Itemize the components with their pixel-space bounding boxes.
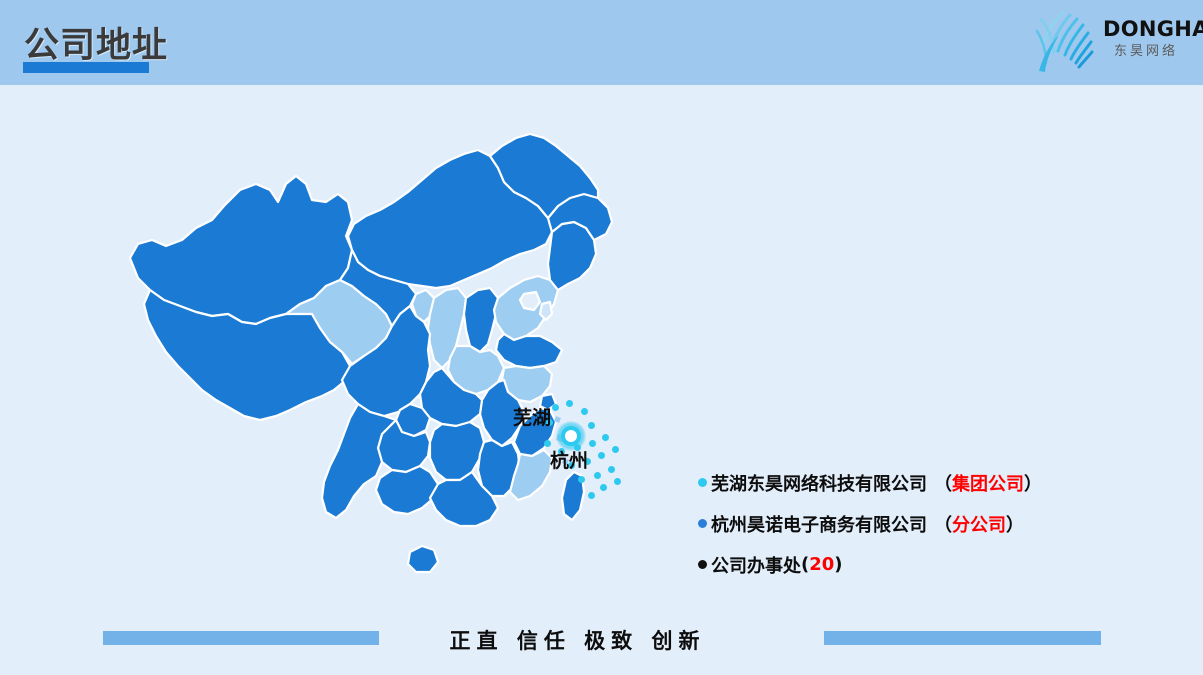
office-dot [594, 472, 601, 479]
province-tianjin [540, 302, 552, 320]
legend-bullet-icon [698, 560, 707, 569]
logo-name: DONGHAO [1103, 19, 1189, 40]
city-label-wuhu: 芜湖 [513, 403, 551, 430]
page-header: 公司地址 DONGHAO 东昊网络 [0, 0, 1203, 85]
marker-core-wuhu [565, 430, 577, 442]
office-dot [608, 466, 615, 473]
china-map-svg [100, 128, 680, 613]
legend-tag-suffix: ） [1006, 515, 1024, 536]
office-dot [589, 440, 596, 447]
legend-tag-text: 集团公司 [952, 474, 1024, 495]
province-shanxi [464, 288, 498, 352]
legend-tag-prefix: ( [801, 554, 809, 575]
office-dot [598, 452, 605, 459]
title-underline-accent [23, 62, 149, 73]
legend-tag-prefix: （ [934, 515, 952, 536]
office-dot [600, 484, 607, 491]
office-dot [588, 492, 595, 499]
province-hunan [430, 422, 484, 480]
legend-item-tag: （集团公司） [934, 470, 1042, 496]
legend-item-label: 公司办事处 [711, 552, 801, 578]
legend-tag-suffix: ) [834, 554, 842, 575]
legend-tag-suffix: ） [1024, 474, 1042, 495]
province-beijing [520, 292, 540, 310]
office-dot [588, 422, 595, 429]
office-dot [578, 476, 585, 483]
page-title: 公司地址 [24, 17, 168, 68]
legend-item-offices: 公司办事处 (20) [698, 544, 1118, 585]
legend-bullet-icon [698, 478, 707, 487]
legend: 芜湖东昊网络科技有限公司 （集团公司） 杭州昊诺电子商务有限公司 （分公司） 公… [698, 462, 1118, 585]
city-label-hangzhou: 杭州 [550, 446, 588, 473]
office-dot [581, 408, 588, 415]
legend-tag-prefix: （ [934, 474, 952, 495]
legend-item-label: 芜湖东昊网络科技有限公司 [711, 470, 927, 496]
legend-item-tag: （分公司） [934, 511, 1024, 537]
office-dot [614, 478, 621, 485]
province-shandong [496, 334, 562, 368]
legend-item-branch: 杭州昊诺电子商务有限公司 （分公司） [698, 503, 1118, 544]
company-logo: DONGHAO 东昊网络 [1027, 7, 1190, 77]
office-dot [602, 434, 609, 441]
legend-item-tag: (20) [801, 554, 843, 575]
office-dot [612, 446, 619, 453]
legend-bullet-icon [698, 519, 707, 528]
logo-subtitle: 东昊网络 [1103, 45, 1189, 58]
province-guangxi [376, 466, 438, 514]
office-dot [566, 400, 573, 407]
legend-item-headquarters: 芜湖东昊网络科技有限公司 （集团公司） [698, 462, 1118, 503]
china-map: 芜湖 杭州 [100, 128, 680, 613]
legend-tag-text: 分公司 [952, 515, 1006, 536]
office-dot [552, 404, 559, 411]
province-hainan [408, 546, 438, 572]
legend-tag-text: 20 [809, 554, 834, 575]
footer-bar-right [824, 631, 1101, 645]
logo-text-block: DONGHAO 东昊网络 [1103, 19, 1189, 58]
legend-item-label: 杭州昊诺电子商务有限公司 [711, 511, 927, 537]
feather-wing-logo-icon [1033, 9, 1101, 75]
